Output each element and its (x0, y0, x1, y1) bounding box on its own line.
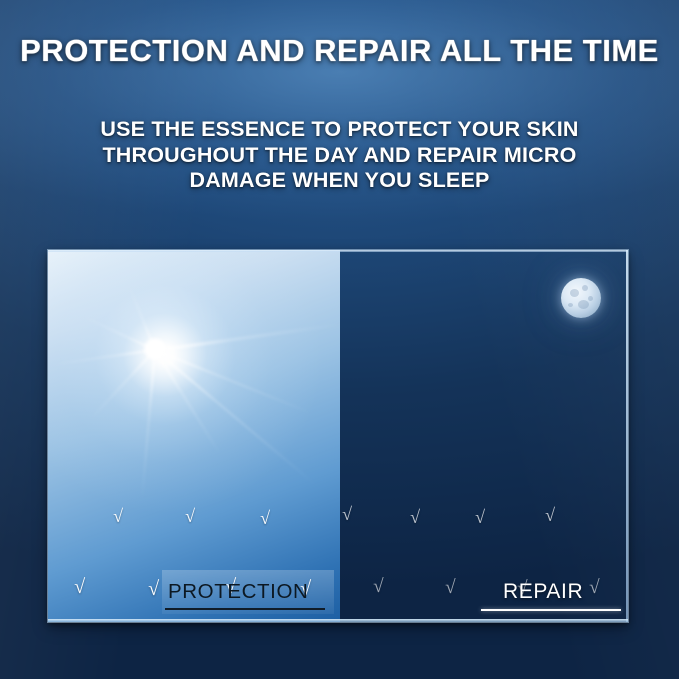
sun-ray-icon (155, 349, 317, 485)
panel-frame-right (626, 250, 628, 622)
check-mark-icon: √ (148, 579, 159, 599)
subtitle-line-1: USE THE ESSENCE TO PROTECT YOUR SKIN (58, 117, 621, 143)
panel-frame-top (48, 250, 628, 252)
sun-ray-icon (155, 349, 313, 415)
day-half: √√√√√√√ (48, 250, 340, 622)
check-mark-icon: √ (113, 507, 123, 525)
sun-ray-icon (82, 315, 155, 351)
moon-icon (561, 278, 601, 318)
protection-underline (165, 608, 325, 610)
check-mark-icon: √ (74, 577, 85, 597)
check-mark-icon: √ (185, 507, 195, 525)
check-mark-icon: √ (545, 506, 555, 524)
night-half: √√√√√√√√ (340, 250, 628, 622)
check-mark-icon: √ (445, 578, 455, 597)
check-mark-icon: √ (475, 508, 485, 526)
moon-crater-icon (588, 296, 593, 301)
promo-banner: PROTECTION AND REPAIR ALL THE TIME USE T… (0, 0, 679, 679)
sun-ray-icon (89, 349, 155, 420)
moon-crater-icon (582, 285, 588, 291)
protection-label-text: PROTECTION (168, 580, 308, 603)
moon-crater-icon (578, 300, 589, 309)
day-night-panel: √√√√√√√ √√√√√√√√ PROTECTION REPAIR (48, 250, 628, 622)
repair-label-text: REPAIR (503, 580, 583, 603)
subtitle-line-3: DAMAGE WHEN YOU SLEEP (58, 168, 621, 194)
sun-ray-icon (141, 350, 156, 500)
page-title: PROTECTION AND REPAIR ALL THE TIME (0, 33, 679, 69)
subtitle-line-2: THROUGHOUT THE DAY AND REPAIR MICRO (58, 143, 621, 169)
check-mark-icon: √ (373, 577, 383, 596)
sun-ray-icon (51, 349, 155, 366)
repair-underline (481, 609, 621, 611)
sun-core-icon (144, 338, 166, 360)
sun-ray-icon (128, 285, 156, 351)
sun-icon (48, 250, 330, 520)
repair-label: REPAIR (503, 580, 583, 604)
check-mark-icon: √ (342, 505, 352, 523)
check-mark-icon: √ (410, 508, 420, 526)
panel-frame-bottom (48, 619, 628, 622)
subtitle-block: USE THE ESSENCE TO PROTECT YOUR SKIN THR… (58, 117, 621, 194)
check-mark-icon: √ (260, 509, 270, 527)
check-mark-icon: √ (589, 578, 599, 597)
protection-label: PROTECTION (168, 580, 308, 604)
sun-ray-icon (154, 349, 222, 456)
moon-crater-icon (568, 303, 573, 307)
moon-crater-icon (570, 289, 579, 297)
sun-ray-icon (155, 323, 340, 352)
